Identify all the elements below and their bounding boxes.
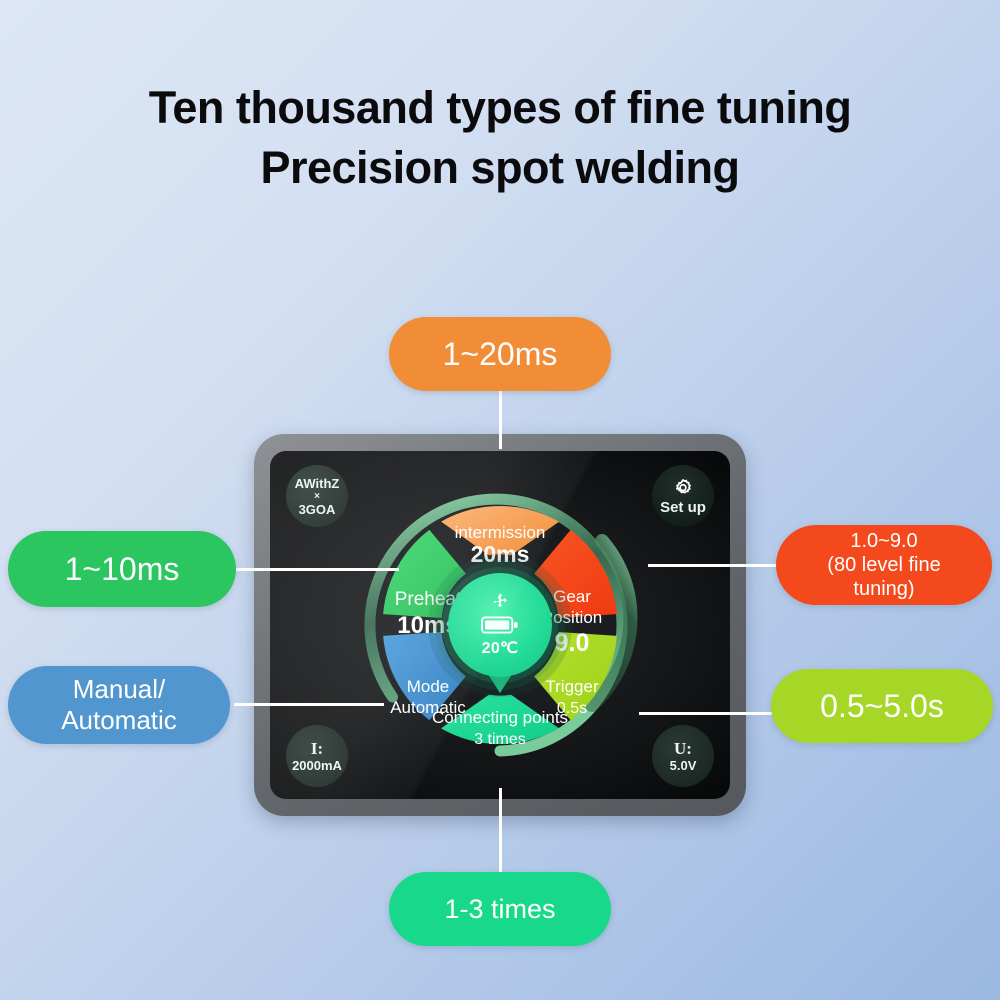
segment-points-value: 3 times <box>474 731 526 748</box>
voltage-value: 5.0V <box>670 758 697 773</box>
connector-line-mode <box>234 703 384 706</box>
device-screen: AWithZ × 3GOA Set up I: 2000mA U: 5.0V <box>270 451 730 799</box>
callout-trigger-line1: 0.5~5.0s <box>820 688 944 725</box>
brand-separator: × <box>314 491 320 502</box>
callout-points-line1: 1-3 times <box>444 894 555 925</box>
callout-mode-line1: Manual/ <box>73 674 166 705</box>
callout-gear-line2: (80 level fine <box>827 553 940 577</box>
callout-intermission-line1: 1~20ms <box>443 336 558 373</box>
center-hub[interactable]: 20℃ <box>448 573 552 677</box>
segment-mode-label: Mode <box>407 677 450 696</box>
segment-mode-value: Automatic <box>390 698 466 717</box>
segment-intermission-label: intermission <box>455 523 546 542</box>
segment-gear-value: 9.0 <box>555 629 590 657</box>
connector-line-gear <box>648 564 780 567</box>
callout-mode[interactable]: Manual/ Automatic <box>8 666 230 744</box>
gear-icon <box>672 477 694 499</box>
callout-preheat-line1: 1~10ms <box>65 551 180 588</box>
connector-line-intermission <box>499 389 502 449</box>
callout-gear[interactable]: 1.0~9.0 (80 level fine tuning) <box>776 525 992 605</box>
callout-points[interactable]: 1-3 times <box>389 872 611 946</box>
callout-gear-line1: 1.0~9.0 <box>850 529 917 553</box>
current-badge: I: 2000mA <box>286 725 348 787</box>
page-title-line2: Precision spot welding <box>0 138 1000 198</box>
segment-trigger-label: Trigger <box>545 677 599 696</box>
connector-line-trigger <box>639 712 775 715</box>
setup-button[interactable]: Set up <box>652 465 714 527</box>
segment-gear-label-1: Gear <box>553 587 591 606</box>
brand-line1: AWithZ <box>295 476 340 491</box>
callout-gear-line3: tuning) <box>853 577 914 601</box>
callout-intermission[interactable]: 1~20ms <box>389 317 611 391</box>
spot-welder-device: AWithZ × 3GOA Set up I: 2000mA U: 5.0V <box>254 434 746 816</box>
connector-line-points <box>499 788 502 874</box>
connector-line-preheat <box>234 568 399 571</box>
parameter-wheel[interactable]: intermission 20ms Gear Position 9.0 Trig… <box>340 465 660 785</box>
brand-line2: 3GOA <box>299 502 336 517</box>
voltage-symbol: U: <box>674 740 692 758</box>
current-symbol: I: <box>311 740 323 758</box>
segment-intermission-value: 20ms <box>471 541 530 567</box>
callout-preheat[interactable]: 1~10ms <box>8 531 236 607</box>
callout-mode-line2: Automatic <box>61 705 177 736</box>
callout-trigger[interactable]: 0.5~5.0s <box>771 669 993 743</box>
hub-temperature: 20℃ <box>482 638 519 658</box>
current-value: 2000mA <box>292 758 342 773</box>
page-title: Ten thousand types of fine tuning Precis… <box>0 78 1000 198</box>
battery-icon <box>481 615 519 635</box>
setup-label: Set up <box>660 500 706 516</box>
move-arrows-icon <box>490 592 510 612</box>
brand-badge: AWithZ × 3GOA <box>286 465 348 527</box>
page-title-line1: Ten thousand types of fine tuning <box>0 78 1000 138</box>
voltage-badge: U: 5.0V <box>652 725 714 787</box>
